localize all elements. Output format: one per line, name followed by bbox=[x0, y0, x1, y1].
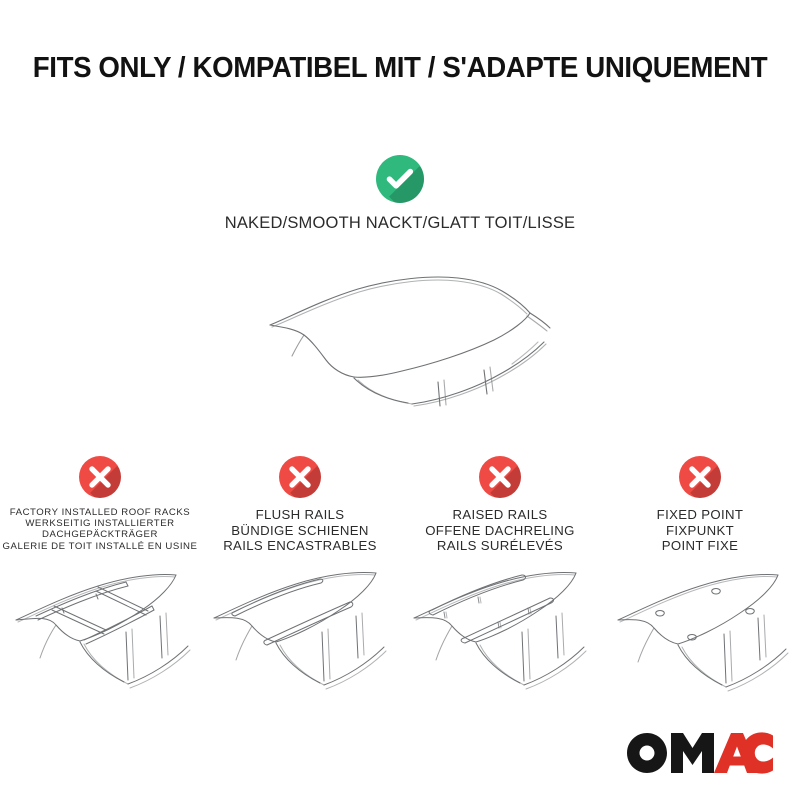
rejected-label-fr: POINT FIXE bbox=[657, 538, 744, 554]
roof-line-art bbox=[200, 560, 400, 720]
rejected-label-de: BÜNDIGE SCHIENEN bbox=[223, 523, 377, 539]
x-circle-icon bbox=[79, 456, 121, 498]
roof-line-art bbox=[400, 560, 600, 720]
fitment-compatibility-graphic: FITS ONLY / KOMPATIBEL MIT / S'ADAPTE UN… bbox=[0, 0, 800, 800]
x-glyph bbox=[479, 456, 521, 498]
rejected-label-fr: GALERIE DE TOIT INSTALLÉ EN USINE bbox=[3, 541, 198, 552]
rejected-label-de-1: WERKSEITIG INSTALLIERTER bbox=[3, 518, 198, 529]
car-roof-factory-rack-illustration bbox=[0, 558, 200, 718]
car-roof-fixed-point-illustration bbox=[600, 560, 800, 720]
car-roof-flush-rails-illustration bbox=[200, 560, 400, 720]
roof-line-art bbox=[262, 272, 562, 407]
check-circle-icon bbox=[376, 155, 424, 203]
rejected-column-fixed-point: FIXED POINT FIXPUNKT POINT FIXE bbox=[600, 456, 800, 720]
rejected-label-de: FIXPUNKT bbox=[657, 523, 744, 539]
rejected-label-de-2: DACHGEPÄCKTRÄGER bbox=[3, 529, 198, 540]
omac-logo-mark bbox=[626, 732, 774, 774]
check-glyph bbox=[376, 155, 424, 203]
omac-letter-o bbox=[627, 733, 667, 773]
rejected-labels: FLUSH RAILS BÜNDIGE SCHIENEN RAILS ENCAS… bbox=[223, 507, 377, 554]
rejected-label-fr: RAILS SURÉLEVÉS bbox=[425, 538, 575, 554]
rejected-label-en: FIXED POINT bbox=[657, 507, 744, 523]
x-circle-icon bbox=[679, 456, 721, 498]
car-roof-naked-smooth-illustration bbox=[262, 272, 562, 407]
x-glyph bbox=[679, 456, 721, 498]
omac-logo bbox=[626, 732, 774, 774]
x-glyph bbox=[79, 456, 121, 498]
roof-line-art bbox=[600, 560, 800, 720]
x-circle-icon bbox=[479, 456, 521, 498]
omac-letter-m bbox=[671, 733, 714, 773]
rejected-label-de: OFFENE DACHRELING bbox=[425, 523, 575, 539]
rejected-label-fr: RAILS ENCASTRABLES bbox=[223, 538, 377, 554]
roof-line-art bbox=[0, 558, 200, 718]
rejected-labels: RAISED RAILS OFFENE DACHRELING RAILS SUR… bbox=[425, 507, 575, 554]
rejected-column-raised-rails: RAISED RAILS OFFENE DACHRELING RAILS SUR… bbox=[400, 456, 600, 720]
x-circle-icon bbox=[279, 456, 321, 498]
x-glyph bbox=[279, 456, 321, 498]
rejected-labels: FACTORY INSTALLED ROOF RACKS WERKSEITIG … bbox=[3, 507, 198, 552]
approved-labels: NAKED/SMOOTH NACKT/GLATT TOIT/LISSE bbox=[225, 214, 576, 234]
rejected-label-en: RAISED RAILS bbox=[425, 507, 575, 523]
approved-roof-type-block: NAKED/SMOOTH NACKT/GLATT TOIT/LISSE bbox=[0, 155, 800, 234]
rejected-roof-types: FACTORY INSTALLED ROOF RACKS WERKSEITIG … bbox=[0, 456, 800, 720]
rejected-label-en: FLUSH RAILS bbox=[223, 507, 377, 523]
approved-label-de: NACKT/GLATT bbox=[366, 214, 480, 232]
rejected-column-flush-rails: FLUSH RAILS BÜNDIGE SCHIENEN RAILS ENCAS… bbox=[200, 456, 400, 720]
page-title: FITS ONLY / KOMPATIBEL MIT / S'ADAPTE UN… bbox=[12, 52, 788, 85]
rejected-labels: FIXED POINT FIXPUNKT POINT FIXE bbox=[657, 507, 744, 554]
car-roof-raised-rails-illustration bbox=[400, 560, 600, 720]
rejected-column-factory-rack: FACTORY INSTALLED ROOF RACKS WERKSEITIG … bbox=[0, 456, 200, 718]
rejected-label-en: FACTORY INSTALLED ROOF RACKS bbox=[3, 507, 198, 518]
approved-label-en: NAKED/SMOOTH bbox=[225, 214, 361, 232]
approved-label-fr: TOIT/LISSE bbox=[485, 214, 576, 232]
